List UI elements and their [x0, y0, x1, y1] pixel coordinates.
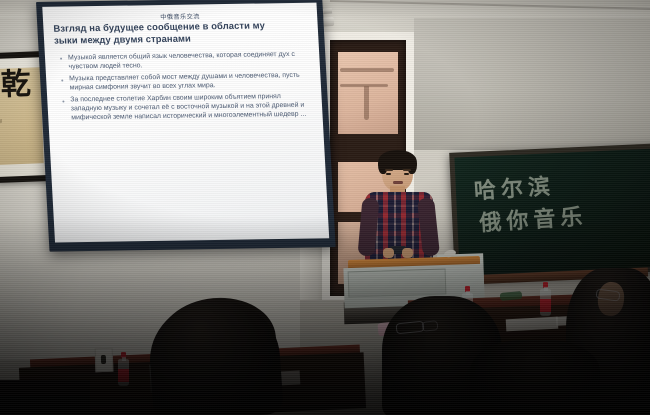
slide-bullet-list: Музыкой является общий язык человечества…: [59, 51, 315, 127]
slide-bullet-item: Музыка представляет собой мост между душ…: [60, 72, 313, 93]
bottle-label: [540, 299, 551, 312]
ceiling-pipe-horizontal: [340, 68, 394, 72]
blackboard-surface: 哈尔滨 俄你音乐: [454, 148, 650, 275]
blackboard-text-line-2: 俄你音乐: [478, 199, 588, 238]
projection-screen: 中俄音乐交流 Взгляд на будущее сообщение в обл…: [36, 0, 336, 252]
presenter-hair-side-left: [378, 156, 387, 174]
presenter-mouth: [393, 181, 403, 184]
eyeglasses-temple: [422, 320, 439, 332]
lecture-room-photo: 乾 印 哈尔滨 俄你音乐 中俄音乐交流 Взгляд на будущее со…: [0, 0, 650, 415]
audience-edge-left: [0, 380, 90, 415]
audience-front-right: [470, 340, 600, 415]
power-outlet[interactable]: [95, 348, 114, 373]
presenter-hand-left: [383, 248, 394, 258]
ceiling-pipe-vertical: [364, 86, 369, 120]
podium-front-panel: [348, 268, 447, 297]
presenter-hair-side-right: [408, 156, 417, 174]
water-bottle: [540, 282, 551, 316]
slide-bullet-item: Музыкой является общий язык человечества…: [59, 51, 312, 72]
presenter-hand-right: [402, 248, 413, 258]
presenter-eyebrow-left: [385, 169, 393, 171]
water-bottle: [118, 352, 129, 386]
presenter-eyebrow-right: [403, 169, 411, 171]
projected-slide: 中俄音乐交流 Взгляд на будущее сообщение в обл…: [42, 3, 329, 243]
calligraphy-glyph: 乾: [0, 70, 33, 101]
slide-bullet-item: За последнее столетие Харбин своим широк…: [61, 93, 315, 123]
calligraphy-seal: 印: [0, 119, 2, 125]
power-outlet-socket: [101, 355, 106, 364]
room-wall-upper-right: [414, 0, 650, 150]
slide-title: Взгляд на будущее сообщение в области му…: [53, 19, 310, 46]
blackboard-text-line-1: 哈尔滨: [473, 168, 556, 205]
bottle-label: [118, 369, 129, 382]
